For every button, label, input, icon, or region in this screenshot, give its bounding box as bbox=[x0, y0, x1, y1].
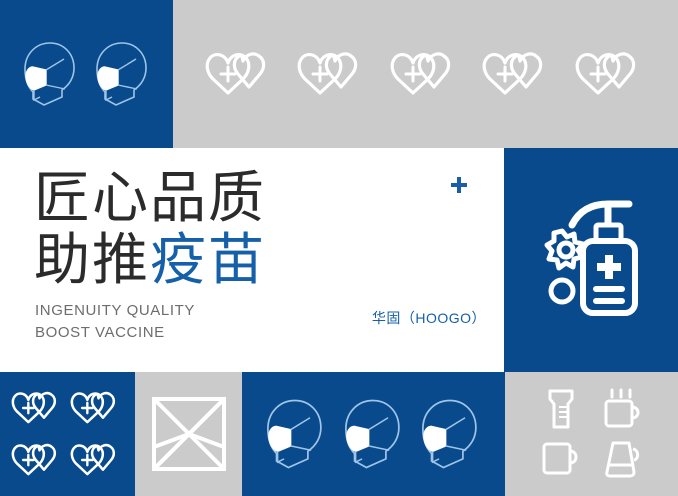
double-heart-plus-icon bbox=[9, 441, 67, 479]
sanitizer-blue-panel bbox=[504, 148, 678, 372]
plus-icon bbox=[597, 255, 621, 279]
poster-canvas: 匠心品质 助推疫苗 INGENUITY QUALITY BOOST VACCIN… bbox=[0, 0, 678, 496]
double-heart-plus-icon bbox=[68, 389, 126, 427]
bottom-heart-icon-grid bbox=[0, 372, 135, 496]
germ-dot-icon bbox=[551, 280, 573, 302]
masked-face-icon bbox=[340, 394, 408, 474]
headline-line-2: 助推疫苗 bbox=[34, 232, 266, 288]
double-heart-plus-icon bbox=[68, 441, 126, 479]
double-heart-plus-icon bbox=[202, 49, 280, 99]
top-mask-icon-row bbox=[0, 0, 173, 148]
headline-line-2-dark: 助推 bbox=[34, 228, 150, 291]
brand-name: 华固（HOOGO） bbox=[372, 308, 486, 328]
double-heart-plus-icon bbox=[9, 389, 67, 427]
mug-icon bbox=[539, 438, 583, 480]
double-heart-plus-icon bbox=[572, 49, 650, 99]
bottom-band bbox=[0, 372, 678, 496]
headline-line-2-blue: 疫苗 bbox=[150, 228, 266, 291]
bottom-vessel-icon-grid bbox=[505, 372, 678, 496]
steaming-mug-icon bbox=[600, 387, 644, 431]
masked-face-icon bbox=[417, 394, 485, 474]
image-placeholder-wrap bbox=[135, 372, 242, 496]
middle-band: 匠心品质 助推疫苗 INGENUITY QUALITY BOOST VACCIN… bbox=[0, 148, 678, 372]
masked-face-icon bbox=[20, 37, 82, 111]
double-heart-plus-icon bbox=[387, 49, 465, 99]
masked-face-icon bbox=[262, 394, 330, 474]
subtitle-text: INGENUITY QUALITY BOOST VACCINE bbox=[35, 300, 195, 344]
top-heart-icon-row bbox=[173, 0, 678, 148]
bottom-mask-icon-row bbox=[242, 372, 505, 496]
headline-card: 匠心品质 助推疫苗 INGENUITY QUALITY BOOST VACCIN… bbox=[0, 148, 504, 357]
double-heart-plus-icon bbox=[294, 49, 372, 99]
double-heart-plus-icon bbox=[479, 49, 557, 99]
headline-line-1: 匠心品质 bbox=[34, 170, 266, 226]
kettle-icon bbox=[600, 438, 644, 480]
crossed-box-placeholder-icon bbox=[150, 395, 228, 473]
masked-face-icon bbox=[92, 37, 154, 111]
plus-icon bbox=[449, 175, 469, 195]
beaker-icon bbox=[542, 387, 580, 431]
sanitizer-icon-group bbox=[526, 185, 656, 335]
virus-germ-icon bbox=[547, 231, 583, 268]
